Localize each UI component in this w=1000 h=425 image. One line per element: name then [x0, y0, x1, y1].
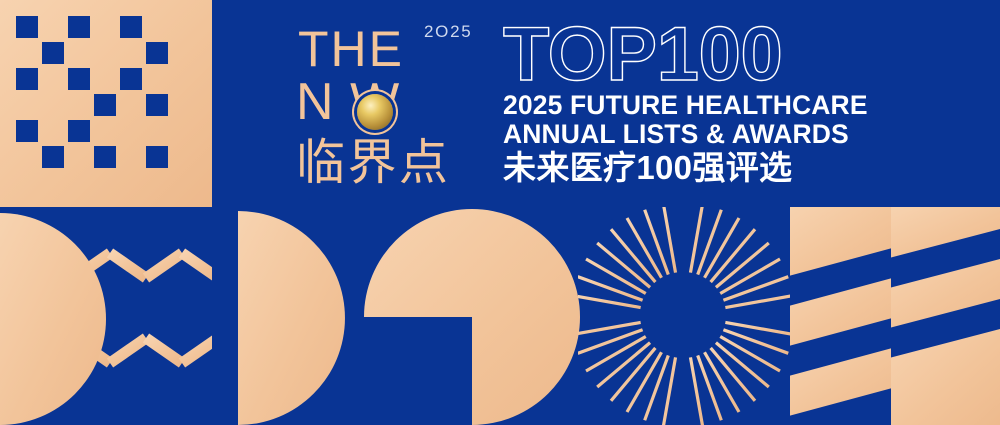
checker-square	[120, 16, 142, 38]
checker-square	[16, 120, 38, 142]
checker-square	[146, 42, 168, 64]
checker-square	[68, 120, 90, 142]
title-block: TOP100 2025 FUTURE HEALTHCARE ANNUAL LIS…	[503, 22, 983, 187]
subtitle-english-line-1: 2025 FUTURE HEALTHCARE	[503, 91, 983, 119]
logo-lockup: THE 2O25 N W 临界点	[296, 18, 486, 188]
checker-square	[68, 16, 90, 38]
logo-the-text: THE	[298, 24, 404, 74]
banner-root: THE 2O25 N W 临界点 TOP100 2025 FUTURE HEAL…	[0, 0, 1000, 425]
gold-orb-icon	[357, 94, 393, 130]
checker-square	[42, 146, 64, 168]
checker-square	[16, 16, 38, 38]
checker-square	[146, 146, 168, 168]
logo-chinese-name: 临界点	[296, 139, 450, 188]
checker-square	[146, 94, 168, 116]
subtitle-chinese-line: 未来医疗100强评选	[503, 150, 983, 187]
checker-square	[120, 68, 142, 90]
logo-year-text: 2O25	[424, 22, 472, 42]
checker-square	[16, 68, 38, 90]
checker-square	[68, 68, 90, 90]
checker-square	[94, 146, 116, 168]
headline-top100: TOP100	[503, 22, 983, 87]
checker-square	[94, 94, 116, 116]
subtitle-english-line-2: ANNUAL LISTS & AWARDS	[503, 120, 983, 148]
checker-square	[42, 42, 64, 64]
